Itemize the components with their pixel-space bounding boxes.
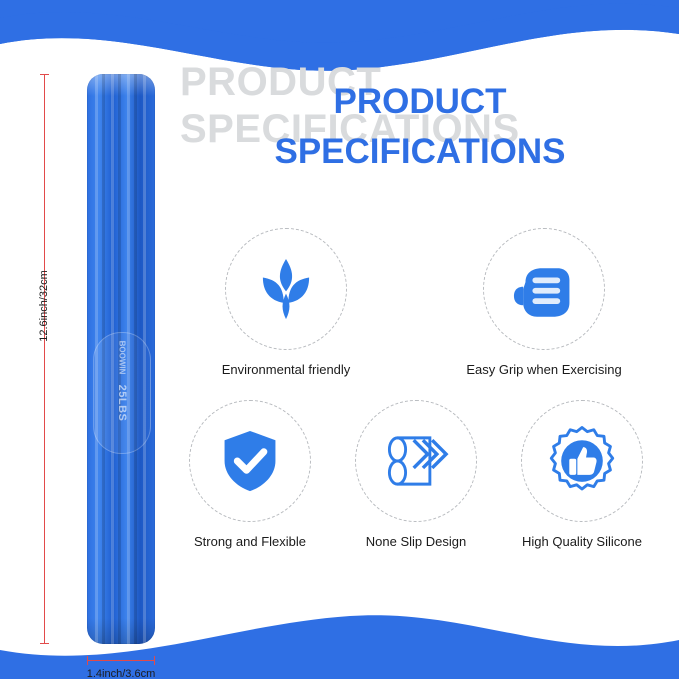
quality-seal-thumbs-up-icon	[545, 424, 619, 498]
resistance-label: 25LBS	[116, 368, 128, 438]
leaf-icon	[249, 252, 323, 326]
width-dimension-line	[87, 660, 155, 661]
feature-label: High Quality Silicone	[522, 534, 642, 550]
width-dimension-label: 1.4inch/3.6cm	[46, 668, 196, 679]
feature-label: None Slip Design	[366, 534, 466, 550]
title-line-2: SPECIFICATIONS	[200, 130, 640, 174]
page-title: PRODUCT SPECIFICATIONS	[200, 80, 640, 174]
product-image-panel: BOOWIN 25LBS 12.6inch/32cm 1.4inch/3.6cm	[28, 60, 178, 660]
feature-label: Strong and Flexible	[194, 534, 306, 550]
grip-texture-icon	[379, 424, 453, 498]
feature-row-1: Environmental friendly Easy Grip when Ex…	[216, 228, 656, 378]
feature-icon-circle	[355, 400, 477, 522]
feature-label: Easy Grip when Exercising	[466, 362, 621, 378]
feature-item: None Slip Design	[346, 400, 486, 550]
feature-row-2: Strong and Flexible None Slip Design	[180, 400, 656, 550]
feature-icon-circle	[483, 228, 605, 350]
fist-grip-icon	[507, 252, 581, 326]
product-specification-page: PRODUCT SPECIFICATIONS PRODUCT SPECIFICA…	[0, 0, 679, 679]
feature-item: High Quality Silicone	[512, 400, 652, 550]
height-dimension-label: 12.6inch/32cm	[38, 256, 50, 356]
title-line-1: PRODUCT	[333, 82, 506, 121]
shield-check-icon	[213, 424, 287, 498]
feature-icon-circle	[521, 400, 643, 522]
feature-icon-circle	[225, 228, 347, 350]
feature-grid: Environmental friendly Easy Grip when Ex…	[186, 228, 656, 549]
product-brand-badge: BOOWIN 25LBS	[93, 332, 151, 454]
feature-label: Environmental friendly	[222, 362, 351, 378]
feature-icon-circle	[189, 400, 311, 522]
feature-item: Strong and Flexible	[180, 400, 320, 550]
feature-item: Easy Grip when Exercising	[474, 228, 614, 378]
feature-item: Environmental friendly	[216, 228, 356, 378]
height-dimension-line	[44, 74, 45, 644]
